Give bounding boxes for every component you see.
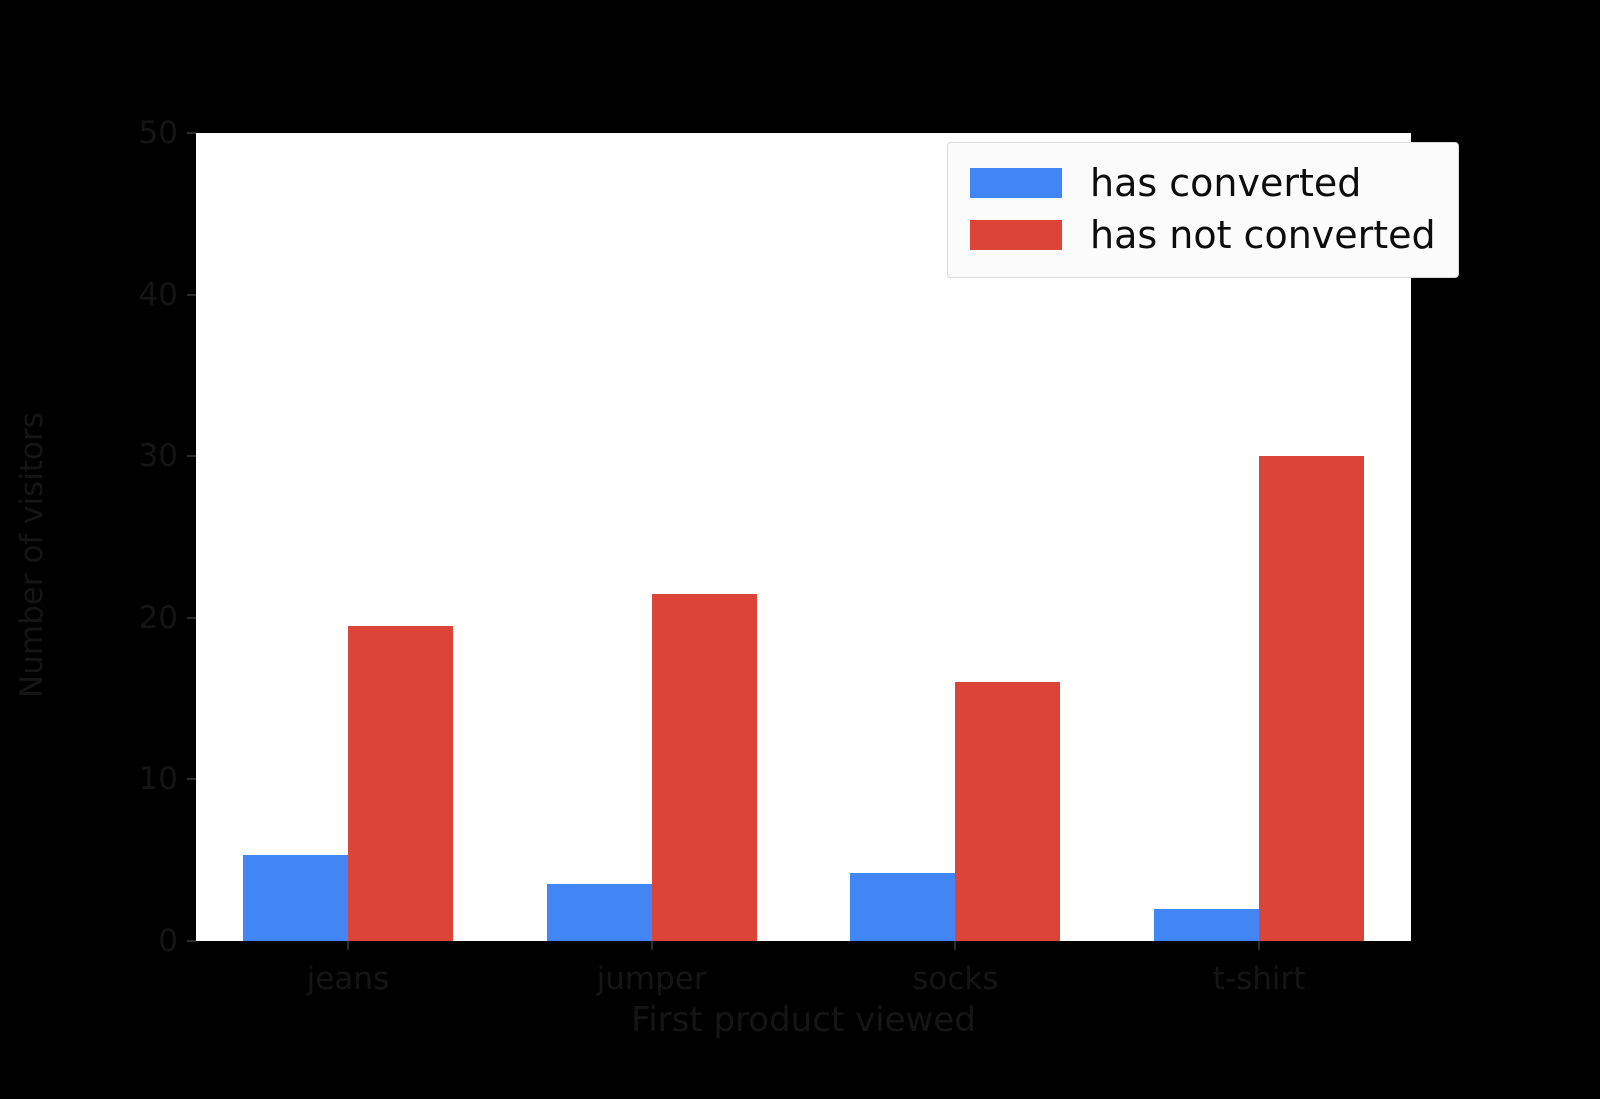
bar-t-shirt-not-converted[interactable] [1259,456,1364,941]
bar-socks-converted[interactable] [850,873,955,941]
bar-group [547,133,757,941]
y-tick-label: 40 [139,276,178,314]
y-tick-mark [187,455,196,457]
y-tick-mark [187,778,196,780]
x-tick-label-t-shirt: t-shirt [1109,961,1409,997]
figure-canvas: Number of visitors 01020304050 jeansjump… [0,0,1600,1099]
legend-label: has converted [1090,161,1361,205]
bar-jeans-not-converted[interactable] [348,626,453,941]
bar-t-shirt-converted[interactable] [1154,909,1259,941]
y-tick-mark [187,294,196,296]
legend-entry[interactable]: has converted [970,157,1436,209]
legend-swatch-icon [970,168,1062,198]
x-tick-mark [1258,941,1260,950]
x-tick-label-jumper: jumper [502,961,802,997]
bar-group [243,133,453,941]
y-tick-mark [187,617,196,619]
bar-jeans-converted[interactable] [243,855,348,941]
x-tick-label-socks: socks [805,961,1105,997]
y-tick-label: 10 [139,760,178,798]
x-tick-mark [954,941,956,950]
y-tick-mark [187,940,196,942]
legend-entry[interactable]: has not converted [970,209,1436,261]
y-axis: Number of visitors 01020304050 [0,133,196,941]
x-axis-title: First product viewed [196,1000,1411,1040]
y-tick-label: 20 [139,599,178,637]
y-tick-mark [187,132,196,134]
bar-jumper-not-converted[interactable] [652,594,757,941]
chart-legend: has convertedhas not converted [947,142,1459,278]
bar-jumper-converted[interactable] [547,884,652,941]
bar-socks-not-converted[interactable] [955,682,1060,941]
y-tick-label: 0 [158,922,178,960]
y-tick-label: 50 [139,114,178,152]
x-tick-mark [651,941,653,950]
y-tick-label: 30 [139,437,178,475]
y-axis-title: Number of visitors [14,255,50,855]
x-tick-label-jeans: jeans [198,961,498,997]
x-tick-mark [347,941,349,950]
legend-label: has not converted [1090,213,1436,257]
legend-swatch-icon [970,220,1062,250]
